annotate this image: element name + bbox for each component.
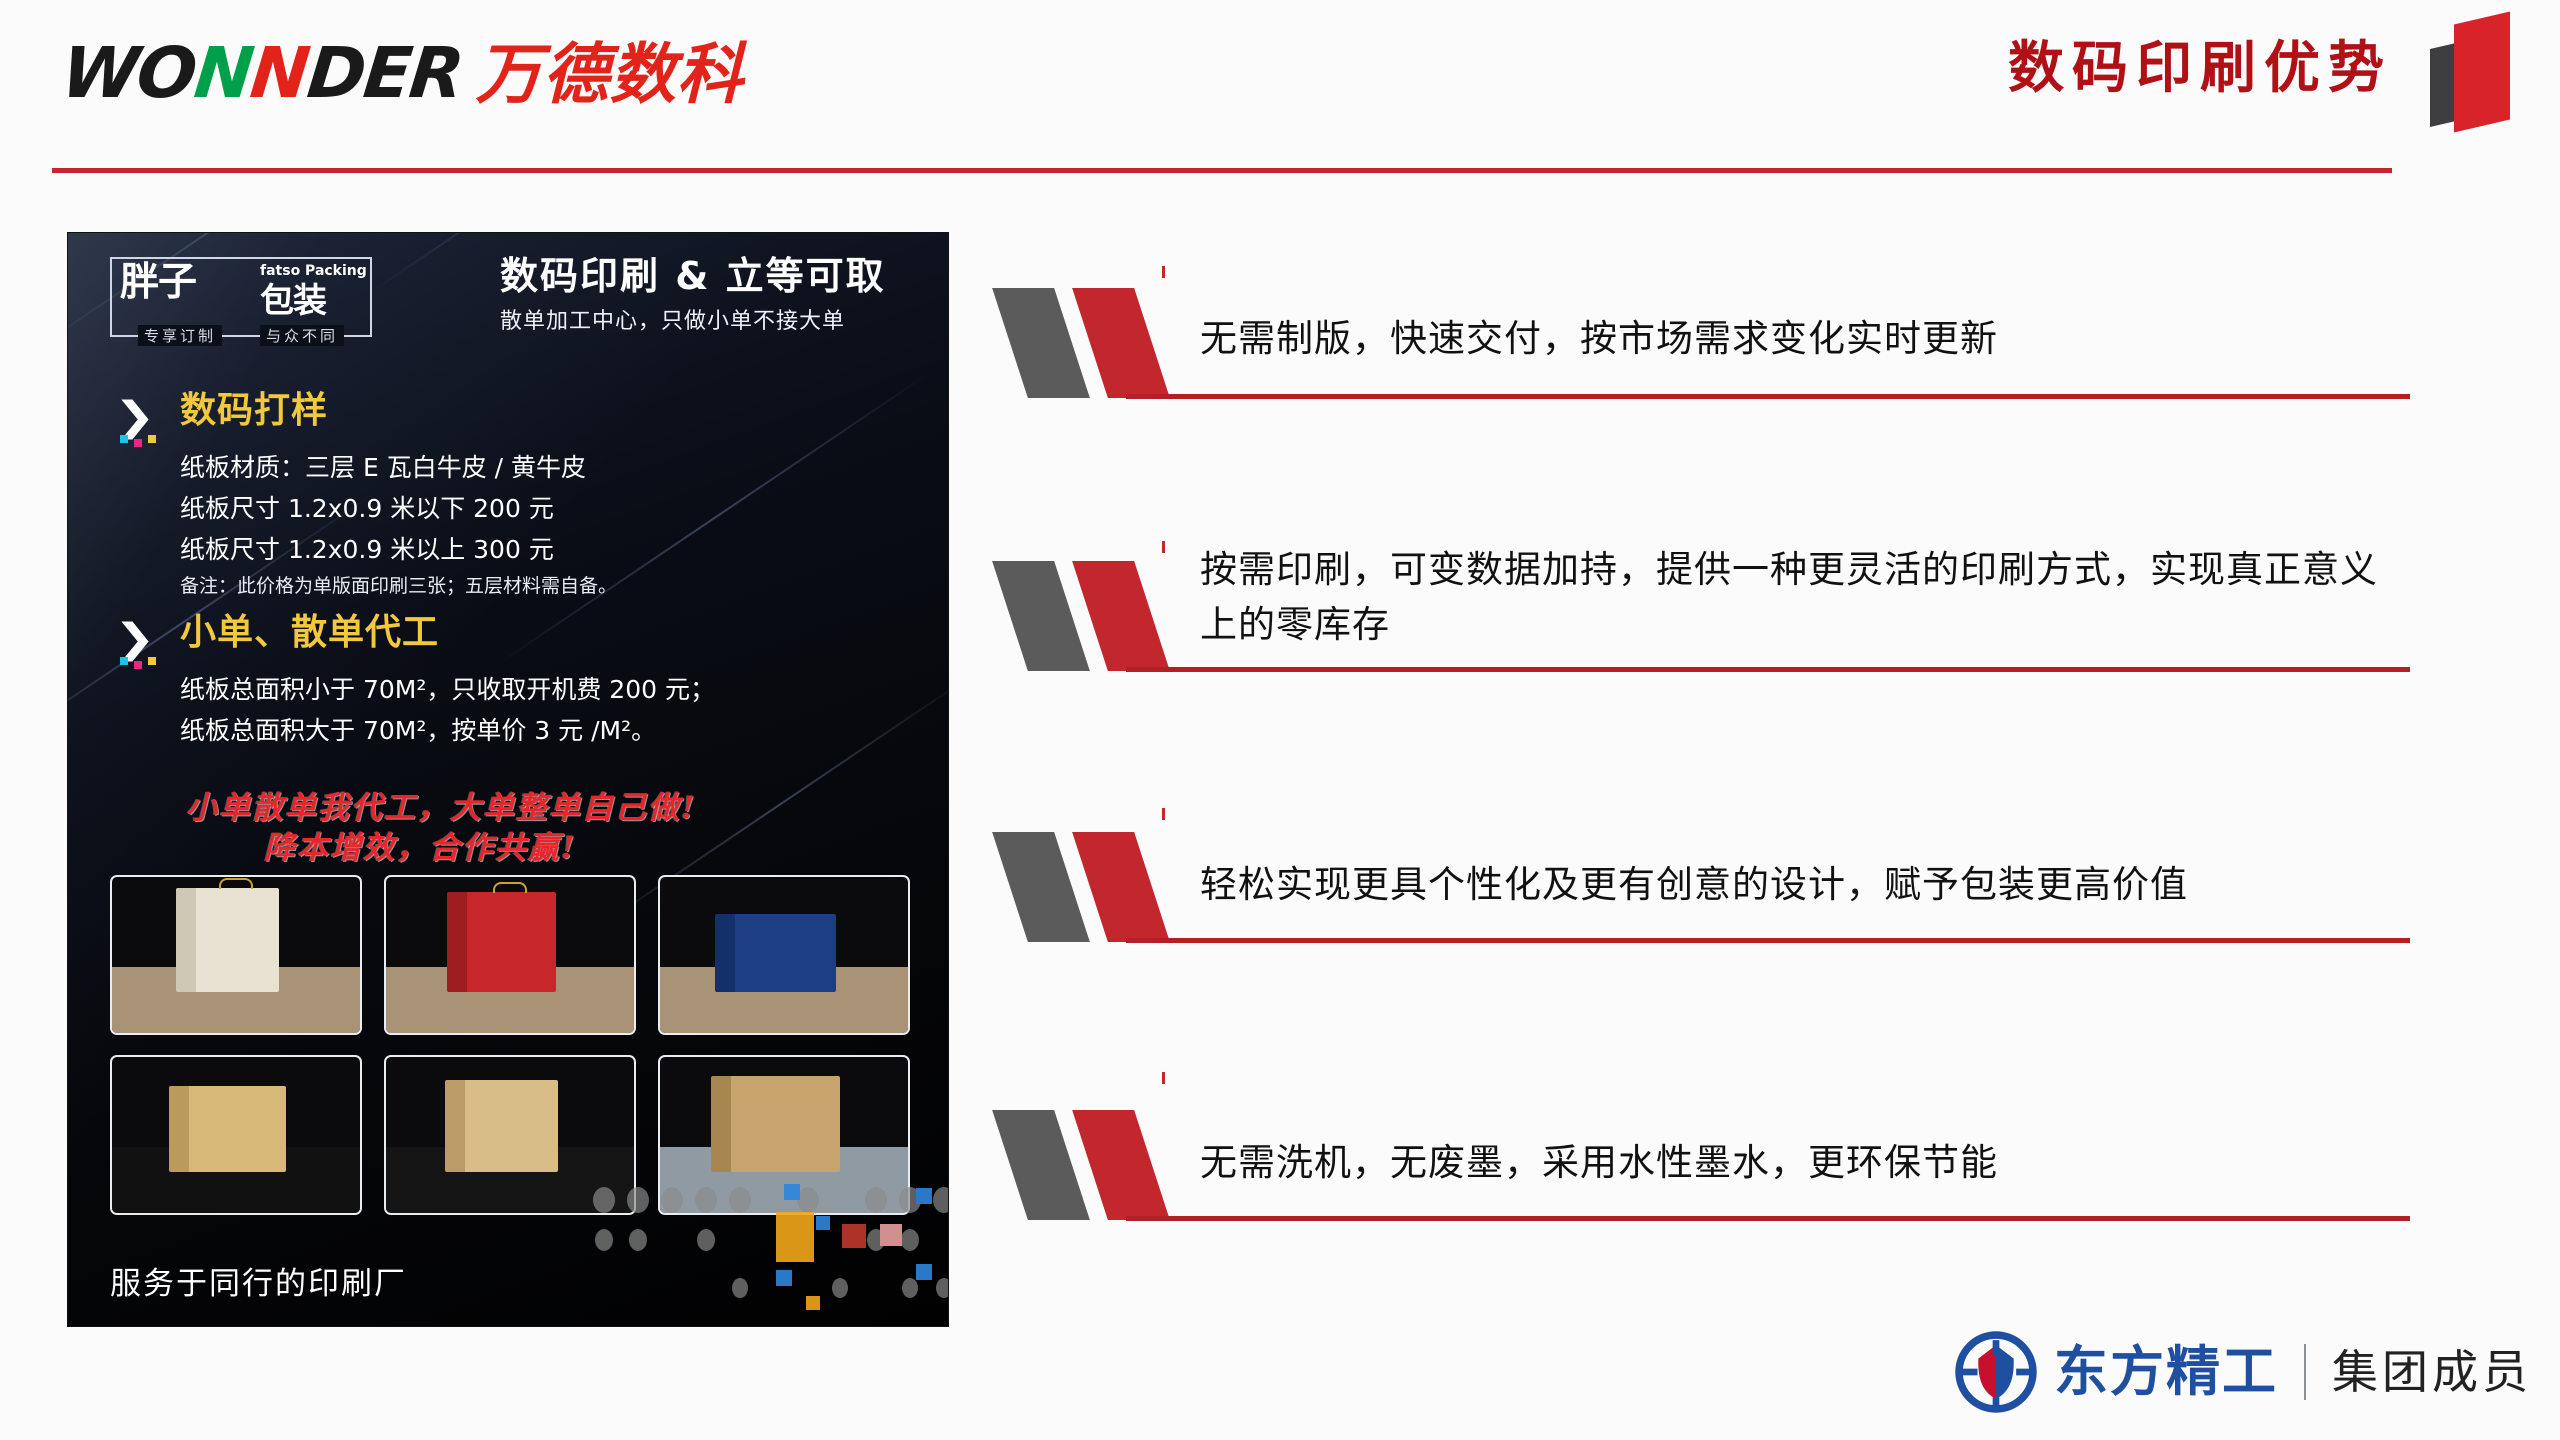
group-member-logo: 东方精工 集团成员 (1954, 1326, 2532, 1418)
advantage-underline (1126, 1216, 2410, 1221)
product-box (728, 1076, 840, 1172)
cmyk-dot-icon (148, 435, 156, 443)
box-handle (493, 882, 527, 893)
poster-section-title-1: 数码打样 (180, 393, 328, 429)
wonder-brand-logo: WO N N DER 万德数科 (62, 38, 744, 108)
corner-block-face (2454, 12, 2510, 133)
poster-section1-line-3: 纸板尺寸 1.2x0.9 米以上 300 元 (180, 537, 554, 562)
group-member-label: 集团成员 (2332, 1349, 2532, 1395)
chevron-right-icon: ❯ (114, 619, 156, 659)
advantage-text: 无需洗机，无废墨，采用水性墨水，更环保节能 (1200, 1136, 1998, 1191)
poster-slogan-line1: 小单散单我代工，大单整单自己做! (186, 793, 697, 824)
dot-pattern-decoration (580, 1178, 948, 1326)
product-photo (110, 1055, 362, 1215)
bullet-marker-group (1004, 1110, 1182, 1220)
poster-section2-line-1: 纸板总面积小于 70M²，只收取开机费 200 元； (180, 677, 715, 702)
bullet-marker-gray (992, 1110, 1090, 1220)
advantage-underline (1126, 667, 2410, 672)
product-photo (658, 875, 910, 1035)
product-box-side (715, 914, 735, 992)
poster-light-streak (497, 372, 929, 664)
poster-slogan-line2: 降本增效，合作共赢! (264, 833, 577, 864)
bullet-tick-mark (1162, 266, 1165, 278)
poster-subheadline: 散单加工中心，只做小单不接大单 (500, 311, 845, 333)
product-photo (384, 875, 636, 1035)
section-arrow-icon: ❯ (112, 395, 182, 447)
wonder-text-n-green: N (191, 38, 255, 108)
wonder-text-n-red: N (248, 38, 312, 108)
product-box-side (176, 888, 196, 992)
header-divider (52, 168, 2392, 173)
wonder-text-post: DER (304, 38, 465, 108)
advantage-underline (1126, 394, 2410, 399)
corner-block-decoration (2428, 4, 2538, 128)
bullet-marker-group (1004, 561, 1182, 671)
product-box-side (169, 1086, 189, 1172)
product-box (732, 914, 836, 992)
poster-section2-line-2: 纸板总面积大于 70M²，按单价 3 元 /M²。 (180, 718, 656, 743)
poster-headline: 数码印刷 & 立等可取 (500, 257, 886, 295)
corner-block-shadow (2430, 43, 2456, 127)
promo-poster-image: 胖子 fatso Packing 包装 专享订制 与众不同 数码印刷 & 立等可… (68, 233, 948, 1326)
bullet-marker-group (1004, 288, 1182, 398)
fatso-tagline-left: 专享订制 (138, 325, 222, 346)
cmyk-dot-icon (148, 657, 156, 665)
advantage-underline (1126, 938, 2410, 943)
chevron-right-icon: ❯ (114, 397, 156, 437)
poster-section1-line-1: 纸板材质：三层 E 瓦白牛皮 / 黄牛皮 (180, 455, 586, 480)
poster-section-title-2: 小单、散单代工 (180, 615, 439, 651)
dongfang-jinggong-mark-icon (1954, 1330, 2038, 1414)
poster-footer-text: 服务于同行的印刷厂 (110, 1269, 407, 1300)
company-name: 东方精工 (2054, 1345, 2278, 1399)
wonder-brand-chinese: 万德数科 (476, 42, 744, 108)
fatso-tagline-right: 与众不同 (260, 325, 344, 346)
product-box-side (445, 1080, 465, 1172)
bullet-marker-gray (992, 832, 1090, 942)
product-photo (110, 875, 362, 1035)
section-arrow-icon: ❯ (112, 617, 182, 669)
bullet-marker-gray (992, 288, 1090, 398)
fatso-logo-cn: 胖子 (120, 263, 196, 302)
bullet-tick-mark (1162, 1072, 1165, 1084)
bullet-tick-mark (1162, 541, 1165, 553)
footer-divider (2304, 1344, 2306, 1400)
product-box (462, 1080, 558, 1172)
bullet-marker-red (1072, 288, 1170, 398)
product-box (186, 1086, 286, 1172)
poster-section1-note: 备注：此价格为单版面印刷三张；五层材料需自备。 (180, 577, 617, 596)
product-photo-grid (110, 875, 910, 1215)
poster-section1-line-2: 纸板尺寸 1.2x0.9 米以下 200 元 (180, 496, 554, 521)
bullet-marker-red (1072, 561, 1170, 671)
bullet-marker-red (1072, 832, 1170, 942)
cmyk-dot-icon (134, 661, 142, 669)
advantage-text: 轻松实现更具个性化及更有创意的设计，赋予包装更高价值 (1200, 858, 2188, 913)
product-box-side (447, 892, 467, 992)
product-box (193, 888, 279, 992)
fatso-packing-logo: 胖子 fatso Packing 包装 专享订制 与众不同 (110, 251, 378, 343)
cmyk-dot-icon (134, 439, 142, 447)
bullet-marker-red (1072, 1110, 1170, 1220)
box-handle (219, 878, 253, 889)
advantage-text: 按需印刷，可变数据加持，提供一种更灵活的印刷方式，实现真正意义上的零库存 (1200, 543, 2400, 653)
bullet-marker-group (1004, 832, 1182, 942)
slide-header: WO N N DER 万德数科 数码印刷优势 (0, 0, 2560, 178)
advantage-text: 无需制版，快速交付，按市场需求变化实时更新 (1200, 312, 1998, 367)
poster-header-band: 胖子 fatso Packing 包装 专享订制 与众不同 数码印刷 & 立等可… (68, 233, 948, 361)
fatso-logo-en: fatso Packing (260, 264, 367, 278)
cmyk-dot-icon (120, 657, 128, 665)
bullet-tick-mark (1162, 808, 1165, 820)
product-box-side (711, 1076, 731, 1172)
fatso-logo-cn2: 包装 (260, 284, 326, 318)
page-title: 数码印刷优势 (2008, 34, 2392, 104)
wonder-text-pre: WO (58, 38, 198, 108)
bullet-marker-gray (992, 561, 1090, 671)
product-box (464, 892, 556, 992)
cmyk-dot-icon (120, 435, 128, 443)
